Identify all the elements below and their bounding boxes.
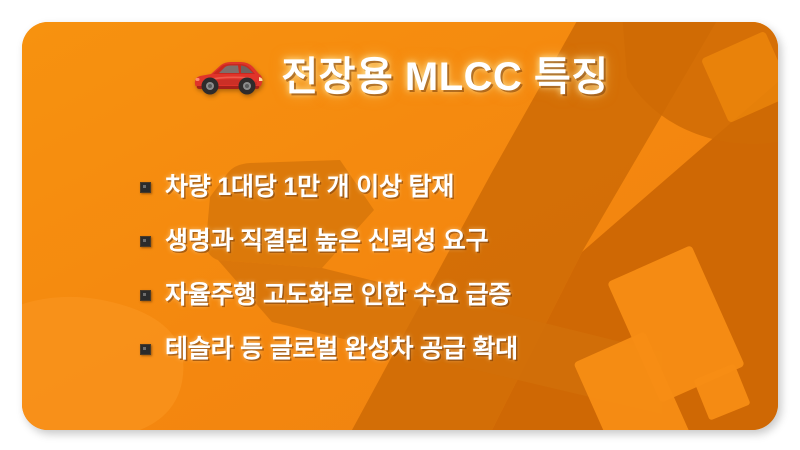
feature-list: 차량 1대당 1만 개 이상 탑재 생명과 직결된 높은 신뢰성 요구 자율주행…	[140, 172, 518, 364]
list-item: 생명과 직결된 높은 신뢰성 요구	[140, 226, 518, 256]
slide-canvas: 전장용 MLCC 특징 차량 1대당 1만 개 이상 탑재 생명과 직결된 높은…	[0, 0, 800, 450]
info-card: 전장용 MLCC 특징 차량 1대당 1만 개 이상 탑재 생명과 직결된 높은…	[22, 22, 778, 430]
red-sports-car-icon	[191, 54, 265, 100]
square-bullet-icon	[140, 236, 151, 247]
list-item-label: 테슬라 등 글로벌 완성차 공급 확대	[165, 337, 518, 362]
list-item: 차량 1대당 1만 개 이상 탑재	[140, 172, 518, 202]
square-bullet-icon	[140, 344, 151, 355]
list-item-label: 생명과 직결된 높은 신뢰성 요구	[165, 229, 488, 254]
card-header: 전장용 MLCC 특징	[22, 54, 778, 100]
list-item: 자율주행 고도화로 인한 수요 급증	[140, 280, 518, 310]
list-item-label: 자율주행 고도화로 인한 수요 급증	[165, 283, 511, 308]
light-rect-upper-shape	[607, 245, 745, 403]
light-square-corner-shape	[693, 363, 750, 420]
page-title: 전장용 MLCC 특징	[281, 57, 608, 97]
list-item: 테슬라 등 글로벌 완성차 공급 확대	[140, 334, 518, 364]
square-bullet-icon	[140, 182, 151, 193]
list-item-label: 차량 1대당 1만 개 이상 탑재	[165, 175, 454, 200]
square-bullet-icon	[140, 290, 151, 301]
bottom-right-wedge-shape	[492, 82, 778, 430]
light-rect-lower-shape	[573, 331, 692, 430]
